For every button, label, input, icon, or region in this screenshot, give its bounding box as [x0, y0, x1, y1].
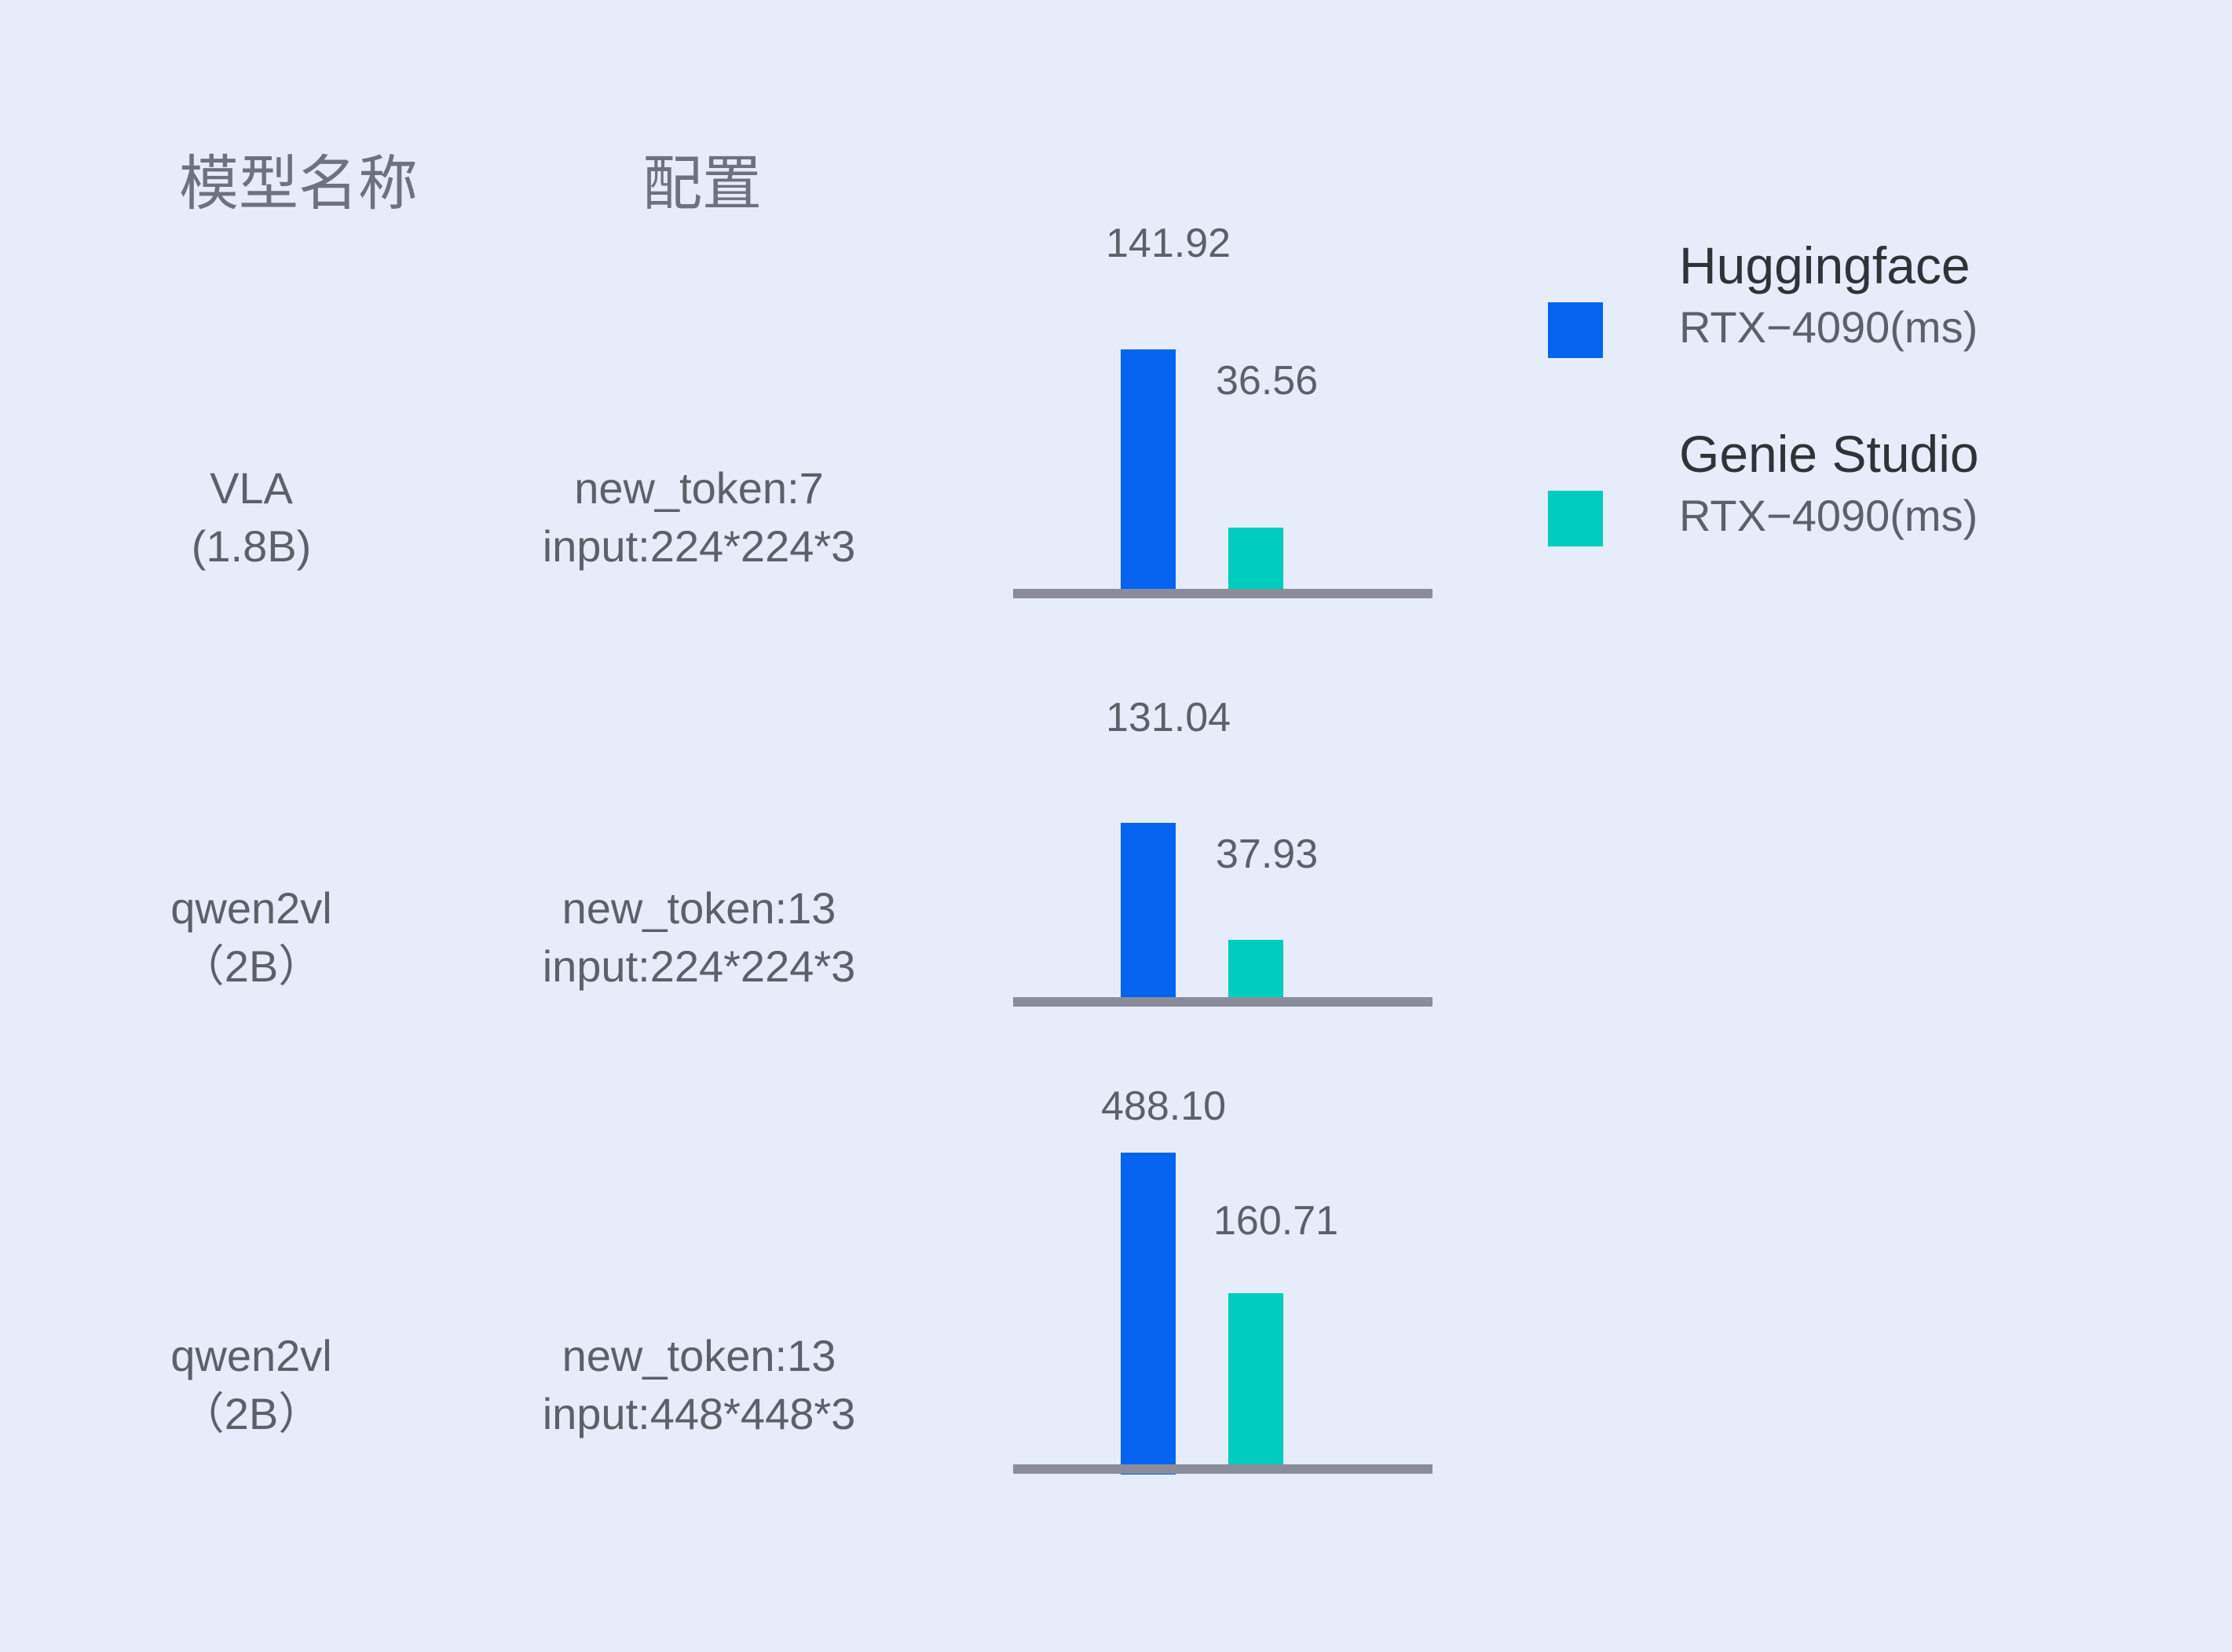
chart-row: qwen2vl （2B） new_token:13 input:448*448*…	[0, 1076, 2232, 1492]
bar-genie-studio[interactable]	[1228, 1293, 1283, 1464]
row-model-line1: qwen2vl	[94, 1327, 408, 1385]
bar-genie-studio[interactable]	[1228, 528, 1283, 589]
row-model-label: VLA (1.8B)	[94, 459, 408, 576]
row-model-line2: （2B）	[94, 937, 408, 996]
row-plot-area: 141.92 36.56	[1013, 236, 1437, 628]
row-baseline	[1013, 1464, 1433, 1474]
bar-value-genie-studio: 160.71	[1213, 1197, 1338, 1244]
row-baseline	[1013, 997, 1433, 1007]
chart-canvas: 模型名称 配置 VLA (1.8B) new_token:7 input:224…	[0, 0, 2232, 1652]
bar-huggingface[interactable]	[1121, 1153, 1176, 1475]
row-config-line2: input:448*448*3	[440, 1385, 958, 1443]
row-model-label: qwen2vl （2B）	[94, 879, 408, 996]
row-config-line1: new_token:13	[440, 879, 958, 937]
bar-value-genie-studio: 36.56	[1216, 357, 1318, 404]
legend-item-huggingface[interactable]: Huggingface RTX−4090(ms)	[1539, 236, 2215, 424]
bar-huggingface[interactable]	[1121, 823, 1176, 997]
row-config-line2: input:224*224*3	[440, 937, 958, 996]
row-config-line1: new_token:13	[440, 1327, 958, 1385]
row-plot-area: 488.10 160.71	[1013, 1076, 1437, 1492]
chart-legend: Huggingface RTX−4090(ms) Genie Studio RT…	[1539, 236, 2215, 612]
legend-swatch-teal-icon	[1548, 491, 1603, 546]
row-baseline	[1013, 589, 1433, 598]
bar-value-huggingface: 488.10	[1101, 1083, 1226, 1130]
legend-title: Genie Studio	[1679, 424, 1979, 485]
legend-swatch-blue-icon	[1548, 302, 1603, 358]
row-model-label: qwen2vl （2B）	[94, 1327, 408, 1443]
row-config-label: new_token:13 input:448*448*3	[440, 1327, 958, 1443]
bar-huggingface[interactable]	[1121, 349, 1176, 589]
row-config-label: new_token:13 input:224*224*3	[440, 879, 958, 996]
row-model-line2: (1.8B)	[94, 517, 408, 576]
legend-subtitle: RTX−4090(ms)	[1679, 488, 1979, 543]
legend-item-genie-studio[interactable]: Genie Studio RTX−4090(ms)	[1539, 424, 2215, 612]
row-model-line2: （2B）	[94, 1385, 408, 1443]
bar-value-huggingface: 131.04	[1106, 694, 1231, 741]
column-header-config: 配置	[642, 135, 762, 221]
row-config-line2: input:224*224*3	[440, 517, 958, 576]
bar-value-genie-studio: 37.93	[1216, 831, 1318, 878]
row-model-line1: VLA	[94, 459, 408, 517]
bar-genie-studio[interactable]	[1228, 940, 1283, 997]
row-model-line1: qwen2vl	[94, 879, 408, 937]
row-config-line1: new_token:7	[440, 459, 958, 517]
legend-title: Huggingface	[1679, 236, 1978, 297]
row-config-label: new_token:7 input:224*224*3	[440, 459, 958, 576]
legend-text-group: Genie Studio RTX−4090(ms)	[1679, 424, 1979, 543]
row-plot-area: 131.04 37.93	[1013, 660, 1437, 1052]
legend-text-group: Huggingface RTX−4090(ms)	[1679, 236, 1978, 355]
legend-subtitle: RTX−4090(ms)	[1679, 300, 1978, 355]
chart-row: qwen2vl （2B） new_token:13 input:224*224*…	[0, 660, 2232, 1052]
column-header-model-name: 模型名称	[179, 135, 418, 221]
bar-value-huggingface: 141.92	[1106, 220, 1231, 267]
